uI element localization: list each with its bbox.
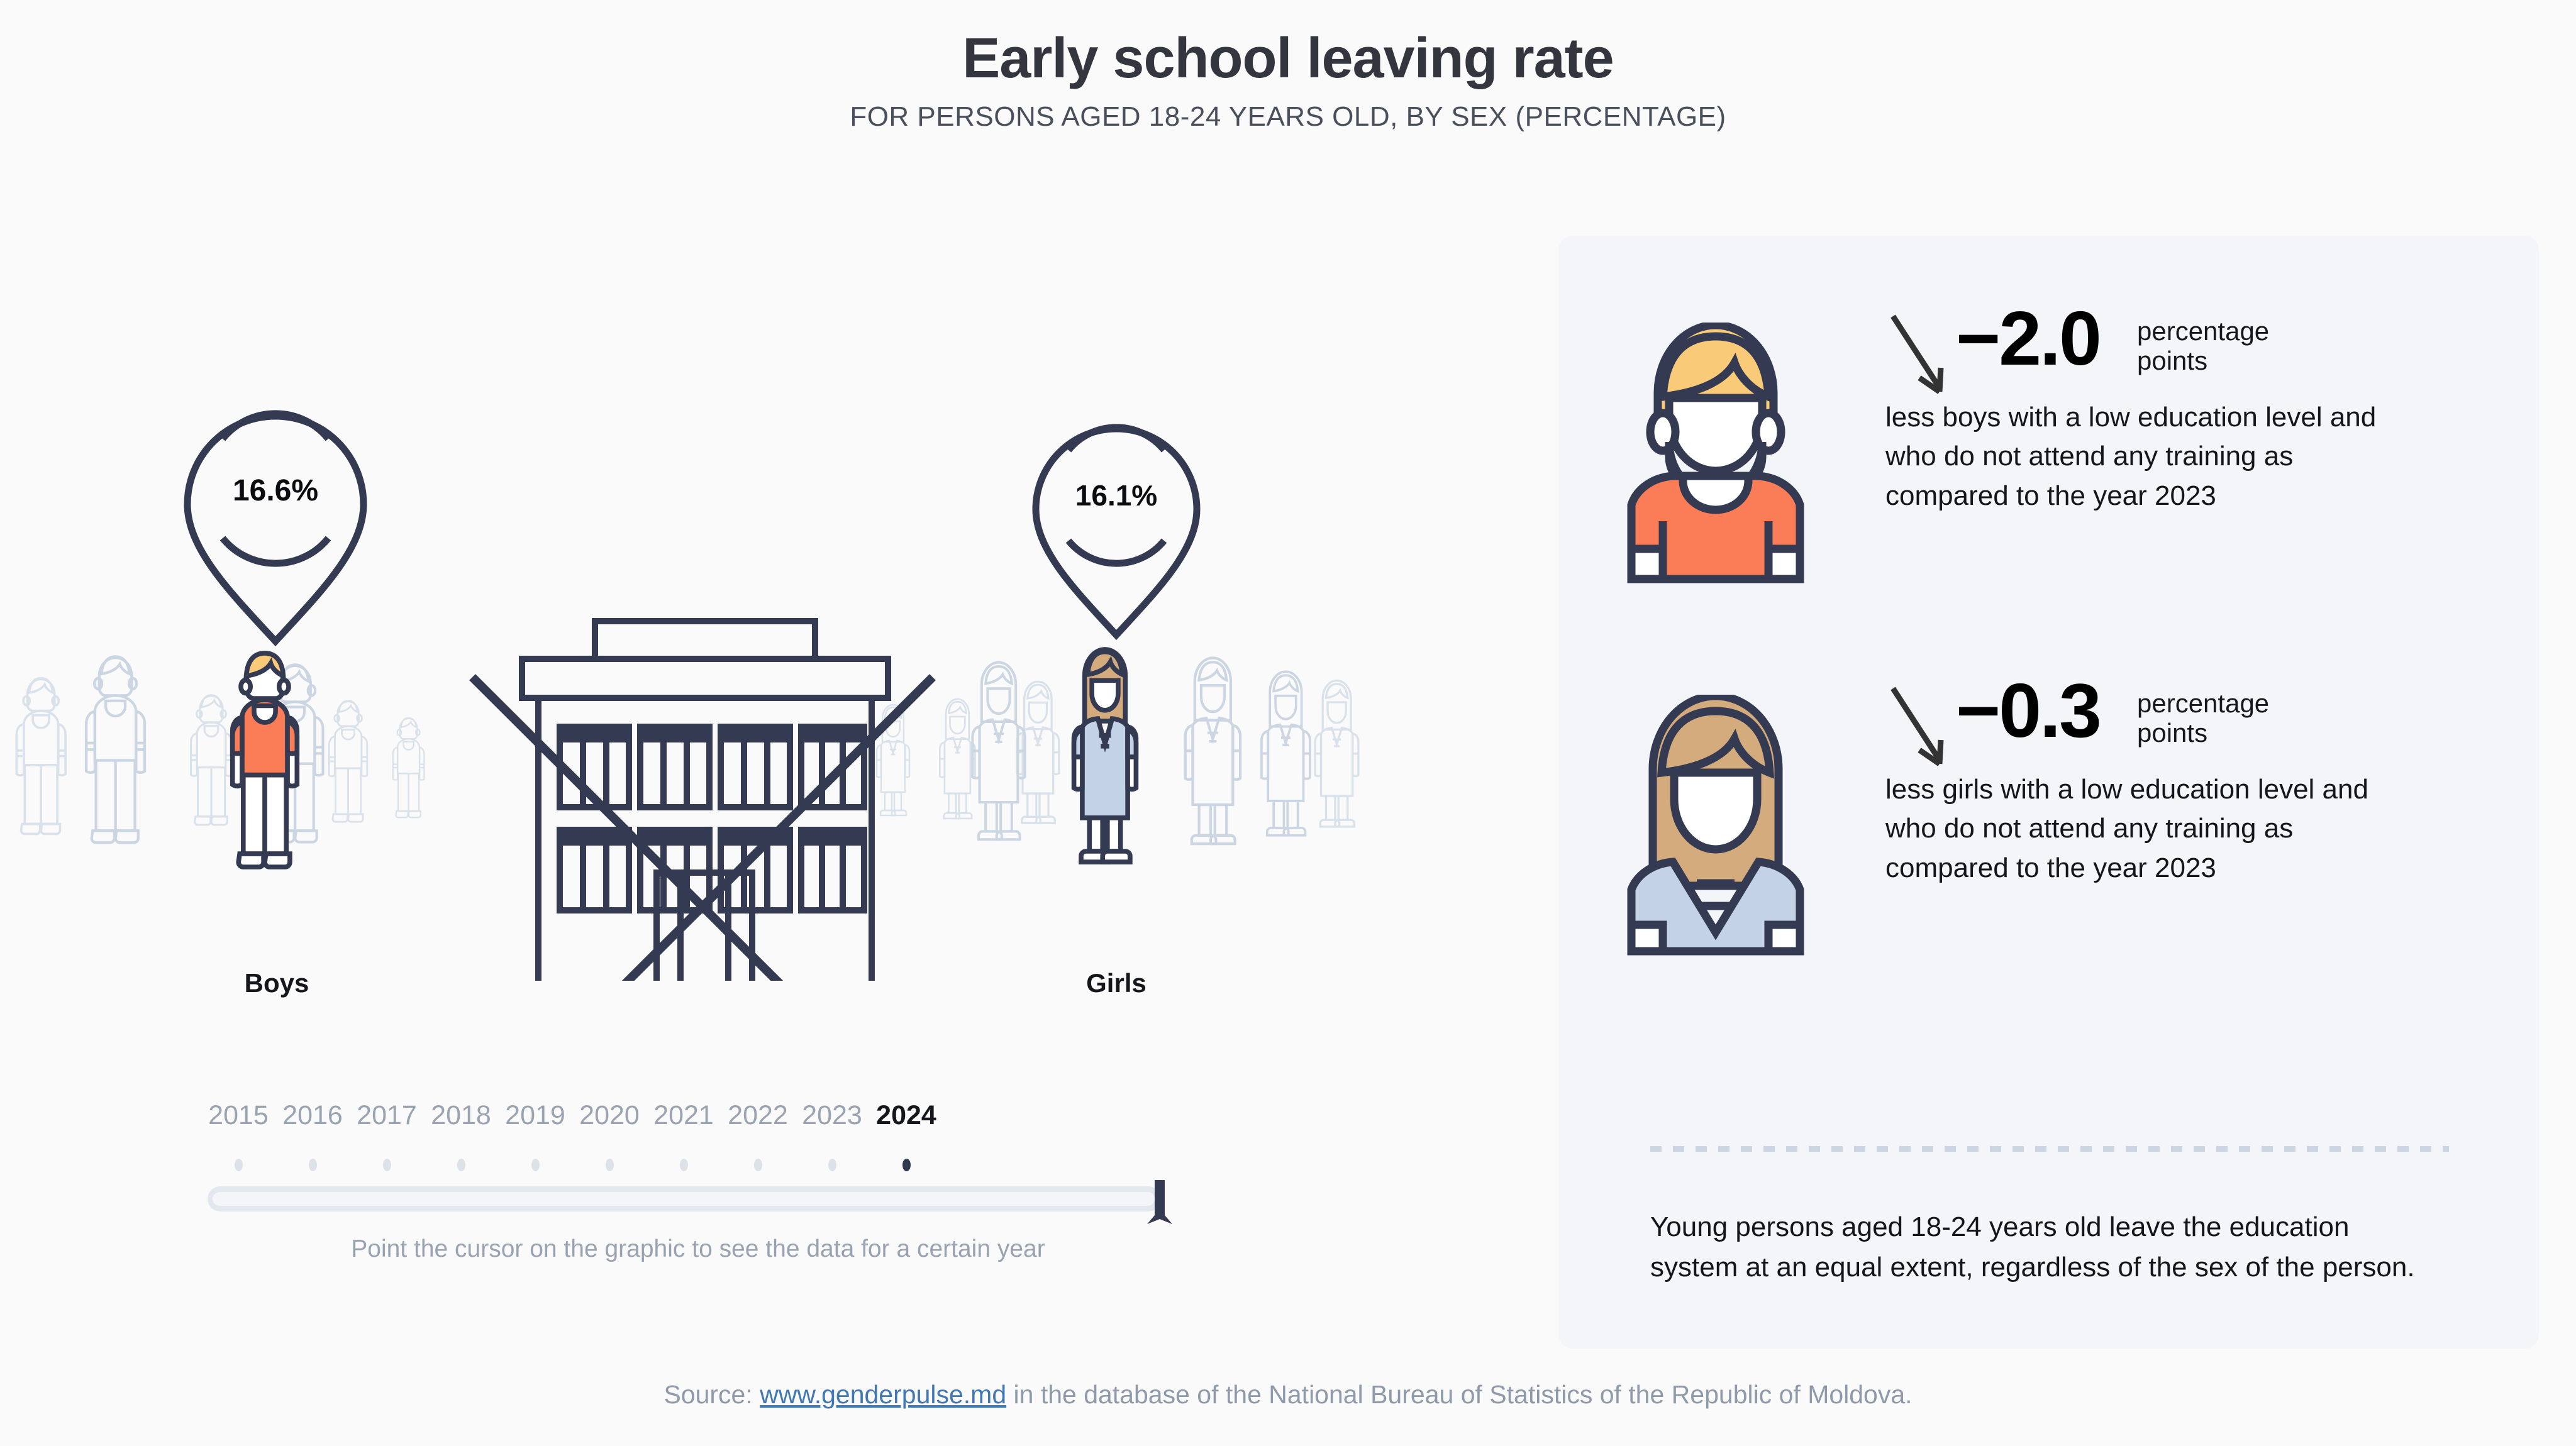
summary-panel: −2.0 percentage points less boys with a … [1558,236,2539,1349]
stat-description-boys: less boys with a low education level and… [1885,398,2389,516]
stat-body-boys: −2.0 percentage points less boys with a … [1885,305,2514,399]
stat-unit-line1-boys: percentage [2137,316,2269,346]
stat-value-girls: −0.3 [1956,672,2100,749]
panel-conclusion: Young persons aged 18-24 years old leave… [1650,1207,2436,1288]
school-building-icon [522,621,888,981]
highlighted-girl-figure [1074,649,1136,862]
girls-pin-value: 16.1% [1075,479,1157,512]
chart-visual-area: 16.6% 16.1% Boys Girls 2015 2016 2017 20… [0,189,1522,1132]
infographic-root: Early school leaving rate FOR PERSONS AG… [0,0,2576,1446]
year-tick-2024[interactable] [902,1159,911,1171]
stat-unit-girls: percentage points [2137,688,2345,748]
girl-avatar [1609,695,1823,959]
stat-unit-boys: percentage points [2137,316,2345,375]
group-label-boys: Boys [151,968,402,998]
page-subtitle: FOR PERSONS AGED 18-24 YEARS OLD, BY SEX… [0,87,2576,131]
stat-body-girls: −0.3 percentage points less girls with a… [1885,677,2514,771]
ghost-girls-front [972,658,1309,844]
arrow-down-right-icon [1885,682,1961,776]
slider-track-inner [213,1192,1155,1206]
year-tick-2021[interactable] [680,1159,688,1171]
year-label-2024[interactable]: 2024 [856,1100,957,1131]
slider-cursor-icon[interactable] [1141,1179,1179,1227]
panel-divider [1650,1146,2449,1152]
year-tick-2016[interactable] [309,1159,317,1171]
timeline-hint: Point the cursor on the graphic to see t… [208,1235,1189,1263]
ghost-boys-back [16,678,425,834]
stat-description-girls: less girls with a low education level an… [1885,770,2389,888]
source-suffix: in the database of the National Bureau o… [1006,1380,1912,1409]
stat-unit-line2-girls: points [2137,718,2207,748]
arrow-down-right-icon [1885,310,1961,404]
stat-unit-line1-girls: percentage [2137,688,2269,718]
year-tick-2015[interactable] [235,1159,243,1171]
header: Early school leaving rate FOR PERSONS AG… [0,0,2576,131]
girls-value-pin: 16.1% [1036,428,1197,635]
source-prefix: Source: [663,1380,760,1409]
year-tick-2023[interactable] [828,1159,836,1171]
slider-track[interactable] [208,1184,1189,1214]
year-timeline[interactable]: 2015 2016 2017 2018 2019 2020 2021 2022 … [208,1100,1189,1289]
page-title: Early school leaving rate [0,0,2576,87]
year-ticks [208,1159,1189,1174]
boys-pin-value: 16.6% [233,474,318,507]
year-tick-2018[interactable] [457,1159,465,1171]
year-tick-2017[interactable] [383,1159,391,1171]
year-tick-2022[interactable] [754,1159,762,1171]
group-label-girls: Girls [991,968,1242,998]
boys-value-pin: 16.6% [187,414,364,641]
crowd-and-school-illustration: 16.6% 16.1% [0,189,1522,981]
stat-value-boys: −2.0 [1956,300,2100,377]
year-tick-2020[interactable] [606,1159,614,1171]
year-tick-2019[interactable] [531,1159,540,1171]
year-labels: 2015 2016 2017 2018 2019 2020 2021 2022 … [208,1100,1189,1144]
source-footer: Source: www.genderpulse.md in the databa… [0,1380,2576,1410]
boy-avatar [1609,323,1823,587]
highlighted-boy-figure [233,653,297,867]
stat-unit-line2-boys: points [2137,346,2207,375]
stat-head-boys: −2.0 percentage points [1885,305,2514,399]
slider-track-outer[interactable] [208,1186,1161,1211]
stat-head-girls: −0.3 percentage points [1885,677,2514,771]
source-link[interactable]: www.genderpulse.md [760,1380,1006,1409]
